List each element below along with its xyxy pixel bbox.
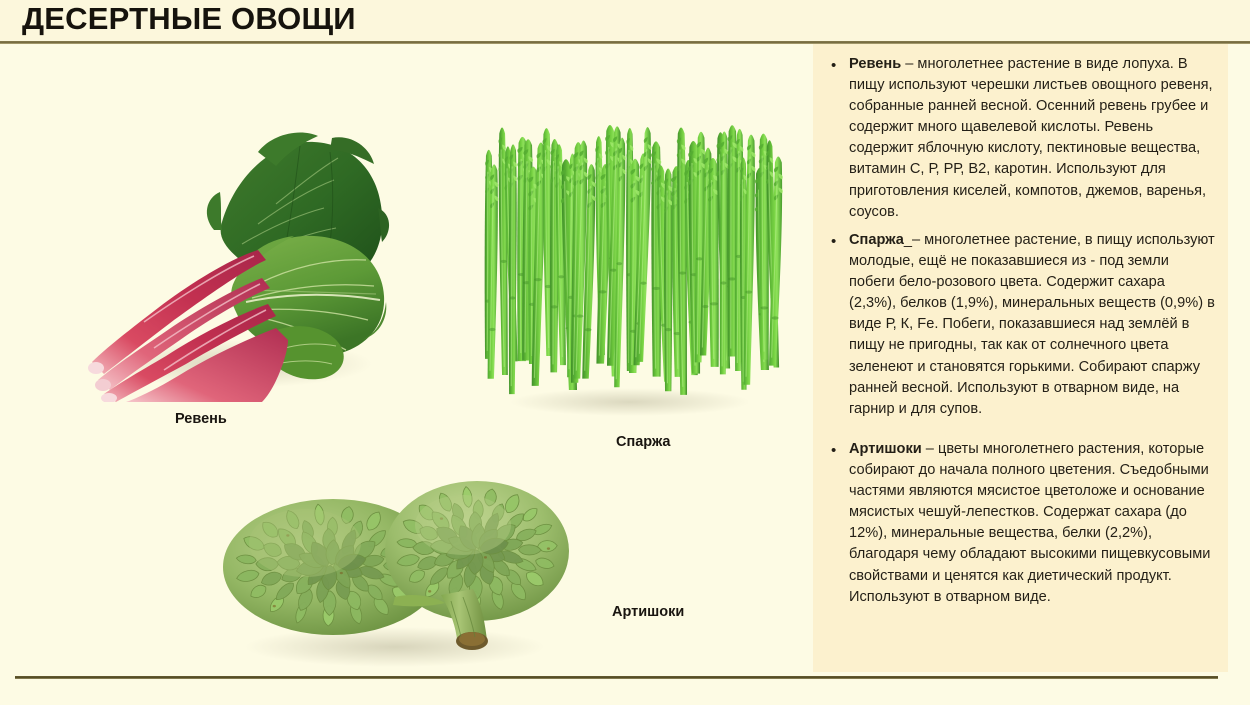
bullet-separator-asparagus: _– <box>904 232 924 248</box>
bullet-body-asparagus: многолетнее растение, в пищу используют … <box>849 232 1215 417</box>
slide-canvas: ДЕСЕРТНЫЕ ОВОЩИ <box>0 0 1250 705</box>
bullet-dot-icon: • <box>831 230 849 252</box>
asparagus-illustration <box>470 118 790 416</box>
bullet-text-rhubarb: Ревень – многолетнее растение в виде лоп… <box>849 54 1215 223</box>
bullet-term-asparagus: Спаржа <box>849 232 904 248</box>
description-panel: • Ревень – многолетнее растение в виде л… <box>813 44 1228 672</box>
bullet-dot-icon: • <box>831 54 849 76</box>
asparagus-caption: Спаржа <box>616 434 670 450</box>
bottom-divider <box>15 676 1218 679</box>
bullet-term-artichoke: Артишоки <box>849 441 922 457</box>
bullet-text-artichoke: Артишоки – цветы многолетнего растения, … <box>849 439 1215 608</box>
rhubarb-caption: Ревень <box>175 411 227 427</box>
artichoke-photo <box>205 455 580 670</box>
bullet-separator-rhubarb: – <box>901 56 917 72</box>
rhubarb-photo <box>62 112 392 402</box>
bullet-item-asparagus: • Спаржа_– многолетнее растение, в пищу … <box>831 230 1215 420</box>
bullet-term-rhubarb: Ревень <box>849 56 901 72</box>
bullet-item-rhubarb: • Ревень – многолетнее растение в виде л… <box>831 54 1215 223</box>
asparagus-photo <box>470 118 790 416</box>
page-title: ДЕСЕРТНЫЕ ОВОЩИ <box>22 1 356 37</box>
rhubarb-illustration <box>62 112 392 402</box>
bullet-dot-icon: • <box>831 439 849 461</box>
bullet-body-rhubarb: многолетнее растение в виде лопуха. В пи… <box>849 56 1213 220</box>
bullet-text-asparagus: Спаржа_– многолетнее растение, в пищу ис… <box>849 230 1215 420</box>
artichoke-illustration <box>205 455 580 670</box>
bullet-body-artichoke: цветы многолетнего растения, которые соб… <box>849 441 1210 605</box>
artichoke-caption: Артишоки <box>612 604 684 620</box>
title-bar: ДЕСЕРТНЫЕ ОВОЩИ <box>0 0 1250 41</box>
bullet-item-artichoke: • Артишоки – цветы многолетнего растения… <box>831 439 1215 608</box>
bullet-separator-artichoke: – <box>922 441 938 457</box>
